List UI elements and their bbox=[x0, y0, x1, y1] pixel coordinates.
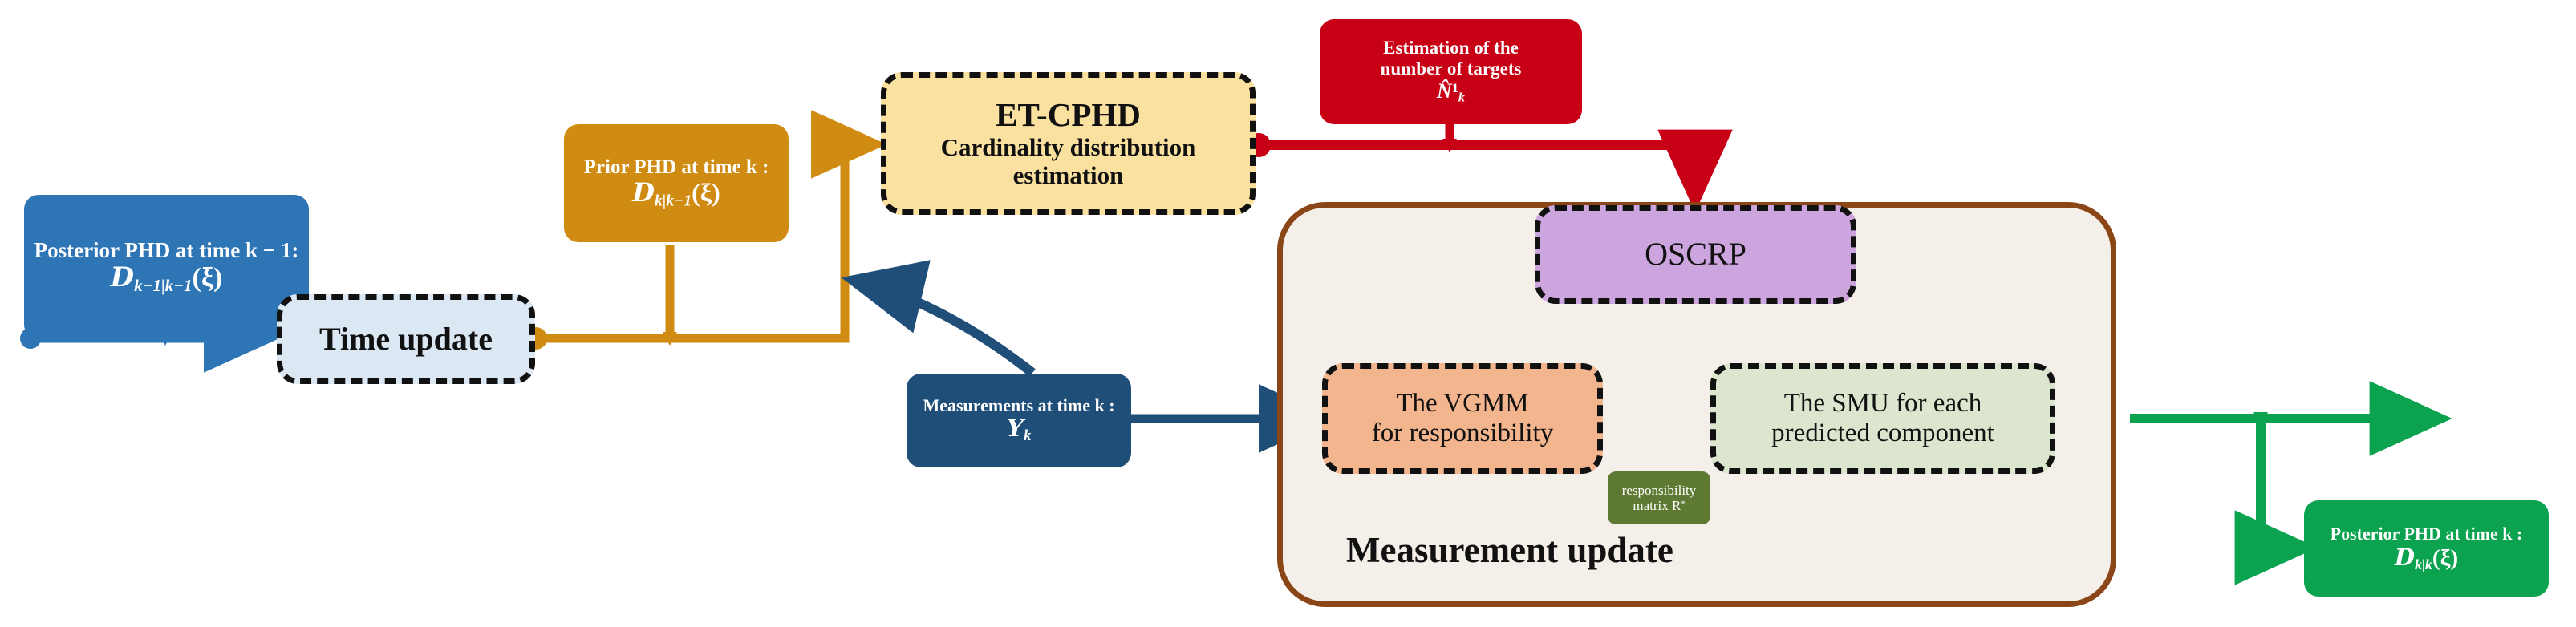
measurement-update-label: Measurement update bbox=[1346, 529, 1673, 571]
resp-line1: responsibility bbox=[1622, 483, 1697, 498]
node-smu[interactable]: The SMU for each predicted component bbox=[1710, 363, 2055, 474]
estimation-line2: number of targets bbox=[1381, 59, 1522, 79]
node-responsibility-matrix[interactable]: responsibility matrix R* bbox=[1608, 471, 1710, 524]
resp-line2: matrix R* bbox=[1633, 498, 1685, 513]
prior-line1: Prior PHD at time k : bbox=[584, 156, 769, 179]
node-measurements[interactable]: Measurements at time k : Yk bbox=[907, 374, 1131, 467]
flowchart-canvas: Measurement update Posterior PHD at time… bbox=[0, 0, 2576, 627]
vgmm-line1: The VGMM bbox=[1396, 389, 1528, 419]
posterior-now-line1: Posterior PHD at time k : bbox=[2331, 524, 2523, 544]
vgmm-line2: for responsibility bbox=[1372, 419, 1553, 448]
node-oscrp[interactable]: OSCRP bbox=[1535, 205, 1856, 304]
etcphd-title: ET-CPHD bbox=[996, 97, 1141, 134]
edge-measurements-to-prediction bbox=[854, 281, 1032, 373]
node-prior-phd[interactable]: Prior PHD at time k : Dk|k−1(ξ) bbox=[564, 124, 789, 242]
smu-line1: The SMU for each bbox=[1784, 389, 1982, 419]
estimation-line3: N̂1k bbox=[1437, 79, 1465, 106]
node-vgmm[interactable]: The VGMM for responsibility bbox=[1322, 363, 1603, 474]
oscrp-label: OSCRP bbox=[1645, 237, 1746, 273]
node-posterior-phd-current[interactable]: Posterior PHD at time k : Dk|k(ξ) bbox=[2304, 500, 2549, 597]
node-posterior-phd-previous[interactable]: Posterior PHD at time k − 1: Dk−1|k−1(ξ) bbox=[24, 195, 309, 339]
time-update-label: Time update bbox=[319, 322, 493, 358]
node-time-update[interactable]: Time update bbox=[277, 294, 535, 384]
posterior-now-line2: Dk|k(ξ) bbox=[2395, 544, 2458, 572]
estimation-line1: Estimation of the bbox=[1383, 38, 1519, 59]
etcphd-line2: Cardinality distribution bbox=[941, 134, 1196, 162]
posterior-prev-line2: Dk−1|k−1(ξ) bbox=[111, 262, 223, 295]
smu-line2: predicted component bbox=[1771, 419, 1994, 448]
etcphd-line3: estimation bbox=[1013, 162, 1124, 190]
measurements-line1: Measurements at time k : bbox=[923, 396, 1114, 416]
posterior-prev-line1: Posterior PHD at time k − 1: bbox=[34, 238, 299, 262]
node-et-cphd[interactable]: ET-CPHD Cardinality distribution estimat… bbox=[881, 72, 1256, 215]
prior-line2: Dk|k−1(ξ) bbox=[632, 179, 720, 210]
node-estimation-of-targets[interactable]: Estimation of the number of targets N̂1k bbox=[1320, 19, 1582, 124]
measurements-line2: Yk bbox=[1007, 415, 1032, 445]
edge-etcphd-to-oscrp bbox=[1247, 120, 1695, 199]
